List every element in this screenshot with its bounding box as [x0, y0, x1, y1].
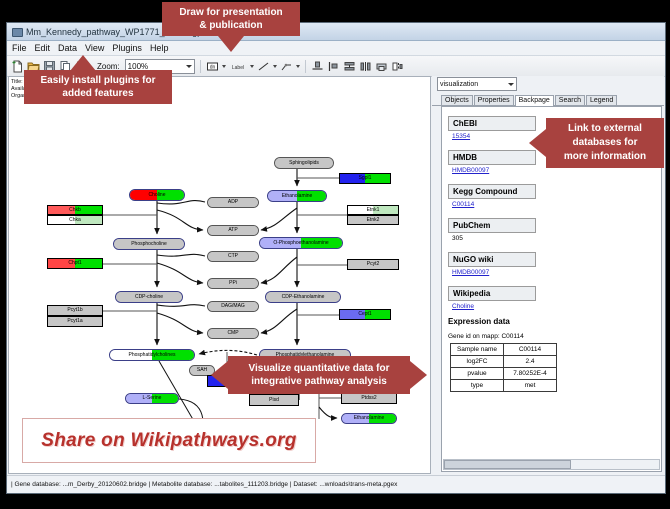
node-label: CDP-Ethanolamine — [282, 295, 325, 300]
menubar: File Edit Data View Plugins Help — [7, 41, 665, 56]
group-icon[interactable] — [375, 60, 388, 73]
node-label: Phosphocholine — [131, 242, 167, 247]
node-label: Sgpl1 — [359, 176, 372, 181]
node-label: Cept1 — [358, 312, 371, 317]
node-label: Phosphatidylcholines — [129, 353, 176, 358]
tab-backpage[interactable]: Backpage — [515, 95, 554, 106]
table-cell: 2.4 — [504, 356, 557, 368]
pathway-node-dag_mag[interactable]: DAG/MAG — [207, 301, 259, 312]
backpage-external-link[interactable]: C00114 — [452, 201, 661, 208]
table-row: Sample nameC00114 — [451, 344, 557, 356]
new-file-icon[interactable] — [11, 60, 24, 73]
annotation-draw: Draw for presentation & publication — [162, 2, 300, 36]
node-label: L-Serine — [143, 396, 162, 401]
table-row: log2FC2.4 — [451, 356, 557, 368]
pathway-node-pcyt1a[interactable]: Pcyt1a — [47, 316, 103, 327]
chevron-down-icon — [186, 65, 192, 68]
node-label: CMP — [227, 331, 238, 336]
pathway-node-ethanolamine_right[interactable]: Ethanolamine — [341, 413, 397, 424]
node-label: Chpt1 — [68, 261, 81, 266]
annotation-plugins: Easily install plugins for added feature… — [24, 70, 172, 104]
table-row: pvalue7.80252E-4 — [451, 368, 557, 380]
svg-text:Label: Label — [232, 65, 244, 71]
line-dropdown-icon[interactable] — [273, 65, 277, 68]
pathway-node-sgpl1[interactable]: Sgpl1 — [339, 173, 391, 184]
line-icon[interactable] — [257, 60, 270, 73]
node-label: Ethanolamine — [282, 194, 313, 199]
annotation-share: Share on Wikipathways.org — [22, 418, 316, 463]
backpage-section-header: Kegg Compound — [448, 184, 536, 199]
table-cell: 7.80252E-4 — [504, 368, 557, 380]
align-left-icon[interactable] — [327, 60, 340, 73]
pathway-node-atp[interactable]: ATP — [207, 225, 259, 236]
pathway-node-chka[interactable]: Chka — [47, 215, 103, 225]
table-cell: C00114 — [504, 344, 557, 356]
side-tabbar: Objects Properties Backpage Search Legen… — [432, 92, 664, 106]
tab-properties[interactable]: Properties — [474, 95, 514, 105]
backpage-external-link[interactable]: Choline — [452, 303, 661, 310]
table-cell: met — [504, 380, 557, 392]
pathway-node-cdp_ethanolamine[interactable]: CDP-Ethanolamine — [265, 291, 341, 303]
node-label: Choline — [149, 193, 166, 198]
annotation-visualize-arrow-left — [211, 361, 228, 389]
chevron-down-icon — [508, 83, 514, 86]
backpage-section-header: PubChem — [448, 218, 536, 233]
backpage-hscrollbar[interactable] — [443, 459, 660, 470]
align-bottom-icon[interactable] — [311, 60, 324, 73]
node-label: DAG/MAG — [221, 304, 245, 309]
backpage-external-link[interactable]: HMDB00097 — [452, 167, 661, 174]
pathway-node-pcyt1b[interactable]: Pcyt1b — [47, 305, 103, 316]
backpage-hscroll-thumb[interactable] — [444, 460, 571, 469]
annotation-plugins-arrow — [70, 55, 96, 71]
statusbar-text: | Gene database: ...m_Derby_20120602.bri… — [11, 481, 397, 488]
label-icon[interactable]: Label — [229, 60, 247, 73]
annotation-visualize-arrow-right — [410, 361, 427, 389]
visualization-combo-row: visualization — [432, 76, 664, 92]
pathway-node-pisd[interactable]: Pisd — [249, 394, 299, 406]
screenshot-root: Mm_Kennedy_pathway_WP1771_45176.gpml Fil… — [0, 0, 670, 509]
node-label: Chkb — [69, 208, 81, 213]
pathway-node-cdp_choline[interactable]: CDP-choline — [115, 291, 183, 303]
annotation-visualize: Visualize quantitative data for integrat… — [228, 356, 410, 394]
pathway-node-ppi[interactable]: PPi — [207, 278, 259, 289]
backpage-section-header: NuGO wiki — [448, 252, 536, 267]
annotation-link-db-arrow — [529, 129, 546, 157]
pathway-node-pcyt2[interactable]: Pcyt2 — [347, 259, 399, 270]
visualization-dropdown-value: visualization — [440, 81, 478, 88]
pathway-node-etnk2[interactable]: Etnk2 — [347, 215, 399, 225]
annotation-plugins-text: Easily install plugins for added feature… — [40, 74, 155, 100]
tab-search[interactable]: Search — [555, 95, 585, 105]
pathway-node-chkb[interactable]: Chkb — [47, 205, 103, 215]
toolbar-separator — [200, 60, 201, 73]
backpage-section-header: ChEBI — [448, 116, 536, 131]
pathway-node-cmp[interactable]: CMP — [207, 328, 259, 339]
pathway-node-choline_top[interactable]: Choline — [129, 189, 185, 201]
menu-view[interactable]: View — [85, 43, 104, 53]
annotation-link-db-text: Link to external databases for more info… — [564, 122, 646, 164]
label-dropdown-icon[interactable] — [250, 65, 254, 68]
node-label: Sphingolipids — [289, 161, 319, 166]
table-cell: type — [451, 380, 504, 392]
svg-text:dn: dn — [209, 64, 215, 70]
pathway-node-sphingolipids[interactable]: Sphingolipids — [274, 157, 334, 169]
pathway-node-chpt1[interactable]: Chpt1 — [47, 258, 103, 269]
pathway-node-cept1[interactable]: Cept1 — [339, 309, 391, 320]
pathway-node-etnk1[interactable]: Etnk1 — [347, 205, 399, 215]
app-window-icon — [11, 26, 22, 37]
node-label: Etnk1 — [367, 208, 380, 213]
visualization-dropdown[interactable]: visualization — [437, 77, 517, 91]
table-cell: log2FC — [451, 356, 504, 368]
menu-file[interactable]: File — [12, 43, 27, 53]
table-row: typemet — [451, 380, 557, 392]
menu-plugins[interactable]: Plugins — [112, 43, 142, 53]
statusbar: | Gene database: ...m_Derby_20120602.bri… — [7, 475, 665, 493]
distribute-icon[interactable] — [359, 60, 372, 73]
annotation-visualize-text: Visualize quantitative data for integrat… — [249, 362, 390, 388]
backpage-section-header: HMDB — [448, 150, 536, 165]
annotation-draw-text: Draw for presentation & publication — [179, 6, 282, 32]
annotation-share-text: Share on Wikipathways.org — [41, 430, 296, 452]
node-label: CDP-choline — [135, 295, 163, 300]
expression-table: Sample nameC00114log2FC2.4pvalue7.80252E… — [450, 343, 557, 392]
node-label: Pcyt2 — [367, 262, 380, 267]
pathway-canvas[interactable]: Title: Availa Organi — [8, 76, 431, 474]
table-cell: Sample name — [451, 344, 504, 356]
toolbar-separator-2 — [305, 60, 306, 73]
node-label: SAH — [197, 368, 207, 373]
anchor-dropdown-icon[interactable] — [296, 65, 300, 68]
node-label: PPi — [229, 281, 237, 286]
window-titlebar: Mm_Kennedy_pathway_WP1771_45176.gpml — [7, 23, 665, 41]
annotation-draw-arrow — [218, 36, 244, 52]
tab-legend[interactable]: Legend — [586, 95, 617, 105]
node-label: Pcyt1a — [67, 319, 82, 324]
pathway-node-phosphocholine[interactable]: Phosphocholine — [113, 238, 185, 250]
node-label: ADP — [228, 200, 238, 205]
stack-icon[interactable] — [343, 60, 356, 73]
annotation-link-db: Link to external databases for more info… — [546, 118, 664, 168]
node-label: Chka — [69, 218, 81, 223]
menu-edit[interactable]: Edit — [35, 43, 51, 53]
pathway-node-adp[interactable]: ADP — [207, 197, 259, 208]
datanode-icon[interactable]: dn — [206, 60, 219, 73]
pathway-node-l_serine_left[interactable]: L-Serine — [125, 393, 179, 404]
node-label: Ethanolamine — [354, 416, 385, 421]
pathway-node-ophosphoethanolamine[interactable]: O-Phosphoethanolamine — [259, 237, 343, 249]
menu-data[interactable]: Data — [58, 43, 77, 53]
gene-id-line: Gene id on mapp: C00114 — [448, 333, 661, 340]
table-cell: pvalue — [451, 368, 504, 380]
pathway-node-ethanolamine[interactable]: Ethanolamine — [267, 190, 327, 202]
node-label: CTP — [228, 254, 238, 259]
node-label: Pcyt1b — [67, 308, 82, 313]
node-label: Ptdss2 — [361, 396, 376, 401]
node-label: O-Phosphoethanolamine — [273, 241, 328, 246]
node-label: Pisd — [269, 398, 279, 403]
pathway-node-phosphatidylcholines[interactable]: Phosphatidylcholines — [109, 349, 195, 361]
datanode-dropdown-icon[interactable] — [222, 65, 226, 68]
ungroup-icon[interactable] — [391, 60, 404, 73]
pathway-node-ctp[interactable]: CTP — [207, 251, 259, 262]
backpage-external-link[interactable]: HMDB00097 — [452, 269, 661, 276]
backpage-section-header: Wikipedia — [448, 286, 536, 301]
node-label: Etnk2 — [367, 218, 380, 223]
expression-data-title: Expression data — [448, 317, 661, 326]
node-label: ATP — [228, 228, 237, 233]
backpage-value: 305 — [452, 235, 661, 242]
menu-help[interactable]: Help — [150, 43, 169, 53]
tab-objects[interactable]: Objects — [441, 95, 473, 105]
anchor-line-icon[interactable] — [280, 60, 293, 73]
